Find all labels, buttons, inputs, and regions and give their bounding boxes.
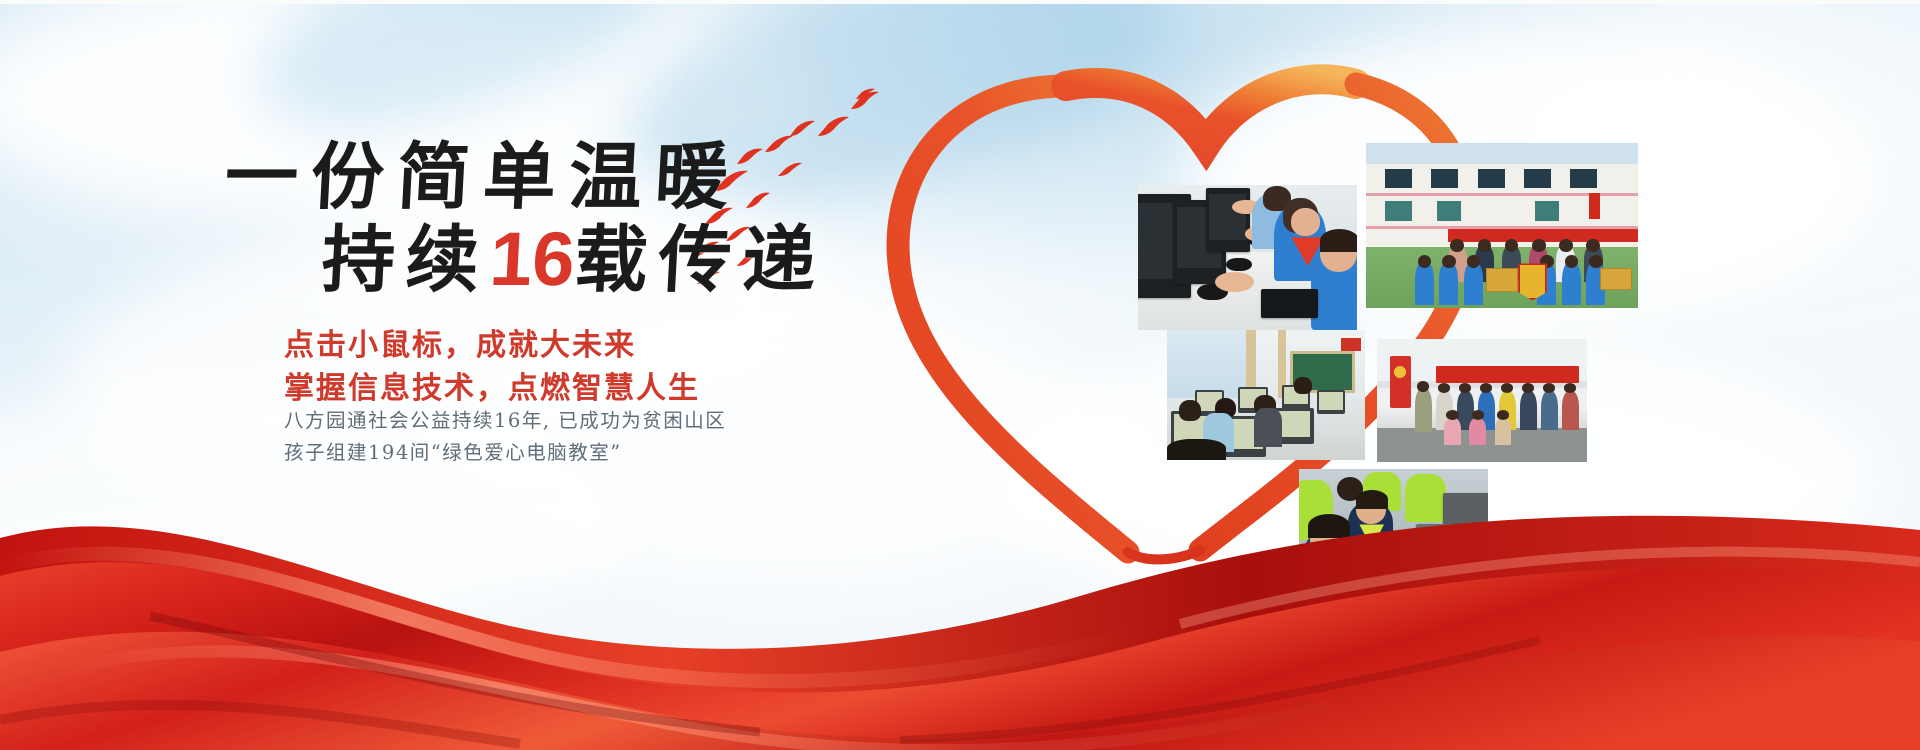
headline-line-2-after: 载传递	[572, 217, 829, 303]
photo-donation-ceremony-school	[1366, 143, 1638, 308]
red-silk-ribbon-wave	[0, 420, 1920, 750]
headline-line-2: 持续16载传递	[0, 220, 762, 300]
photo-computer-lab-students-mice	[1138, 185, 1357, 330]
top-edge-line	[0, 0, 1920, 4]
headline-years-number: 16	[488, 217, 577, 302]
subtitle-line-2: 掌握信息技术，点燃智慧人生	[284, 368, 700, 411]
photo-artwork	[1366, 143, 1638, 308]
headline-line-1: 一份简单温暖	[0, 140, 762, 214]
wave-svg	[0, 420, 1920, 750]
banner-root: 一份简单温暖 持续16载传递 点击小鼠标，成就大未来 掌握信息技术，点燃智慧人生…	[0, 0, 1920, 750]
photo-artwork	[1138, 185, 1357, 330]
headline-line-2-before: 持续	[320, 217, 493, 303]
headline-block: 一份简单温暖 持续16载传递	[0, 140, 760, 300]
subtitle-line-1: 点击小鼠标，成就大未来	[284, 325, 700, 368]
subtitle-block: 点击小鼠标，成就大未来 掌握信息技术，点燃智慧人生	[284, 325, 700, 410]
